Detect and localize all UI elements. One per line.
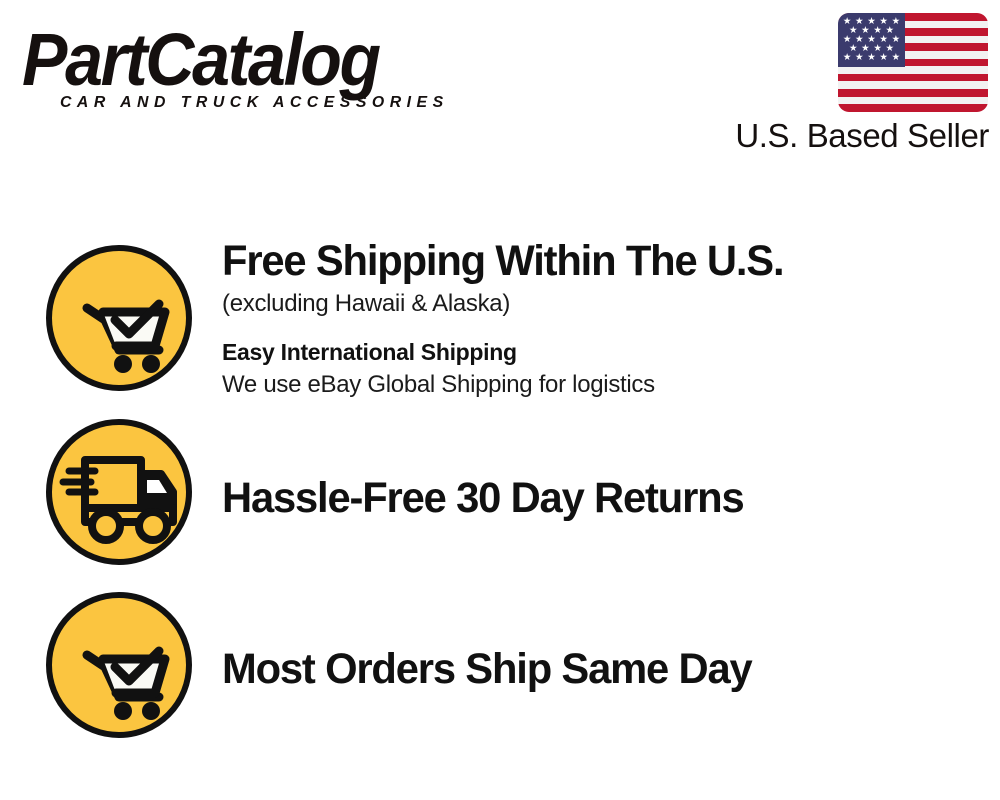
- feature-sub-heading: Easy International Shipping: [222, 336, 982, 368]
- feature-text-block: Hassle-Free 30 Day Returns: [222, 473, 982, 523]
- flag-canton: ★★★★★ ★★★★ ★★★★★ ★★★★ ★★★★★: [838, 13, 905, 67]
- delivery-truck-icon: [43, 416, 195, 568]
- banner-header: PartCatalog CAR AND TRUCK ACCESSORIES ★★…: [0, 0, 1000, 175]
- us-based-seller-label: U.S. Based Seller: [723, 117, 989, 155]
- feature-text-block: Free Shipping Within The U.S. (excluding…: [222, 236, 982, 401]
- flag-star-row: ★★★★★: [838, 53, 905, 63]
- feature-text-block: Most Orders Ship Same Day: [222, 644, 982, 694]
- feature-title: Free Shipping Within The U.S.: [222, 236, 959, 286]
- brand-logo-tagline: CAR AND TRUCK ACCESSORIES: [60, 94, 449, 112]
- feature-title: Hassle-Free 30 Day Returns: [222, 473, 959, 523]
- shopping-cart-check-icon: [43, 242, 195, 394]
- feature-title: Most Orders Ship Same Day: [222, 644, 959, 694]
- feature-sub-detail: We use eBay Global Shipping for logistic…: [222, 369, 982, 401]
- feature-subtitle: (excluding Hawaii & Alaska): [222, 288, 982, 320]
- us-flag-icon: ★★★★★ ★★★★ ★★★★★ ★★★★ ★★★★★: [838, 13, 988, 112]
- brand-logo: PartCatalog CAR AND TRUCK ACCESSORIES: [22, 18, 492, 118]
- shopping-cart-check-icon: [43, 589, 195, 741]
